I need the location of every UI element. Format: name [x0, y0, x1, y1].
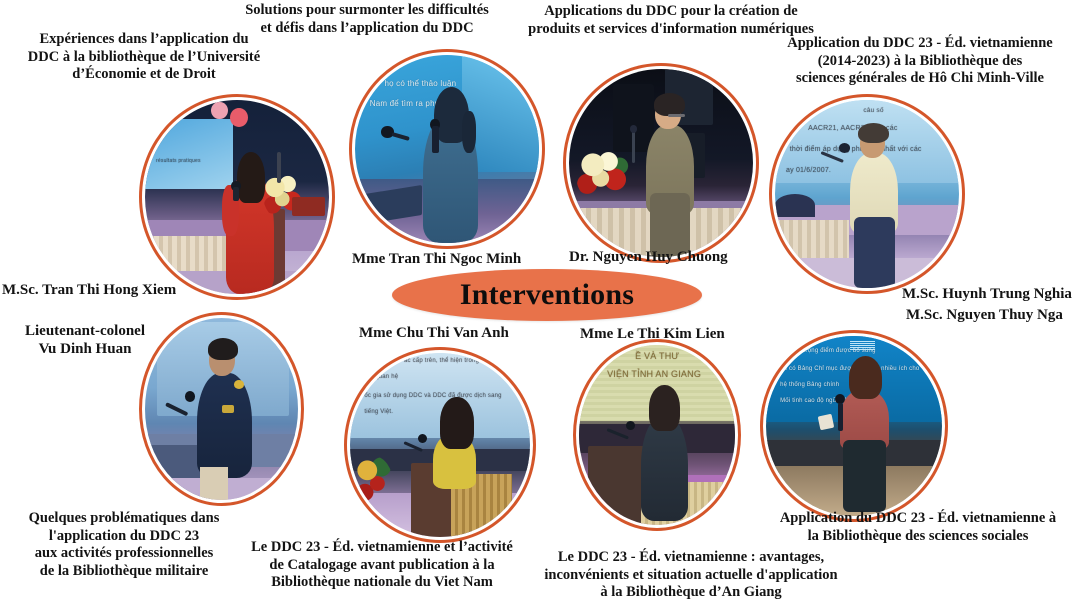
portrait-chu-thi-van-anh: ác cấp trên, thể hiện trong các quan hệ …: [344, 347, 536, 543]
speaker-name-huynh-trung-nghia: M.Sc. Huynh Trung Nghia: [902, 285, 1080, 303]
talk-title-huynh-trung-nghia: Application du DDC 23 - Éd. vietnamienne…: [760, 35, 1080, 88]
talk-title-le-thi-kim-lien: Le DDC 23 - Éd. vietnamienne : avantages…: [519, 549, 863, 602]
interventions-badge-label: Interventions: [460, 280, 634, 310]
interventions-badge: Interventions: [392, 269, 702, 321]
talk-title-nguyen-huy-chuong: Applications du DDC pour la création de …: [500, 3, 842, 38]
speaker-name-le-thi-kim-lien: Mme Le Thi Kim Lien: [580, 325, 810, 343]
portrait-nguyen-huy-chuong: [563, 63, 759, 263]
speaker-name-vu-dinh-huan: Lieutenant-colonel Vu Dinh Huan: [0, 322, 170, 359]
poster-canvas: résultats pratiques: [0, 0, 1080, 604]
talk-title-vu-dinh-huan: Quelques problématiques dans l'applicati…: [0, 510, 248, 581]
speaker-name-tran-thi-hong-xiem: M.Sc. Tran Thi Hong Xiem: [2, 281, 232, 299]
talk-title-tran-thi-ngoc-minh: Solutions pour surmonter les difficultés…: [209, 2, 525, 37]
portrait-le-thi-kim-lien: Ề VÀ THƯ VIỆN TỈNH AN GIANG: [573, 339, 741, 531]
speaker-name-nguyen-huy-chuong: Dr. Nguyen Huy Chuong: [569, 248, 799, 266]
speaker-name-nguyen-thuy-nga: M.Sc. Nguyen Thuy Nga: [906, 306, 1080, 324]
talk-title-chu-thi-van-anh: Le DDC 23 - Éd. vietnamienne et l’activi…: [222, 539, 542, 592]
portrait-nguyen-thuy-nga: Đại học trọng điểm được bổ sung 23 có Bả…: [760, 330, 948, 522]
speaker-name-chu-thi-van-anh: Mme Chu Thi Van Anh: [359, 324, 589, 342]
portrait-tran-thi-ngoc-minh: họ có thể thảo luận Nam để tìm ra phương: [349, 49, 545, 249]
talk-title-nguyen-thuy-nga: Application du DDC 23 - Éd. vietnamienne…: [756, 510, 1080, 545]
portrait-tran-thi-hong-xiem: résultats pratiques: [139, 94, 335, 300]
speaker-name-tran-thi-ngoc-minh: Mme Tran Thi Ngoc Minh: [352, 250, 582, 268]
talk-title-tran-thi-hong-xiem: Expériences dans l’application du DDC à …: [0, 31, 288, 84]
